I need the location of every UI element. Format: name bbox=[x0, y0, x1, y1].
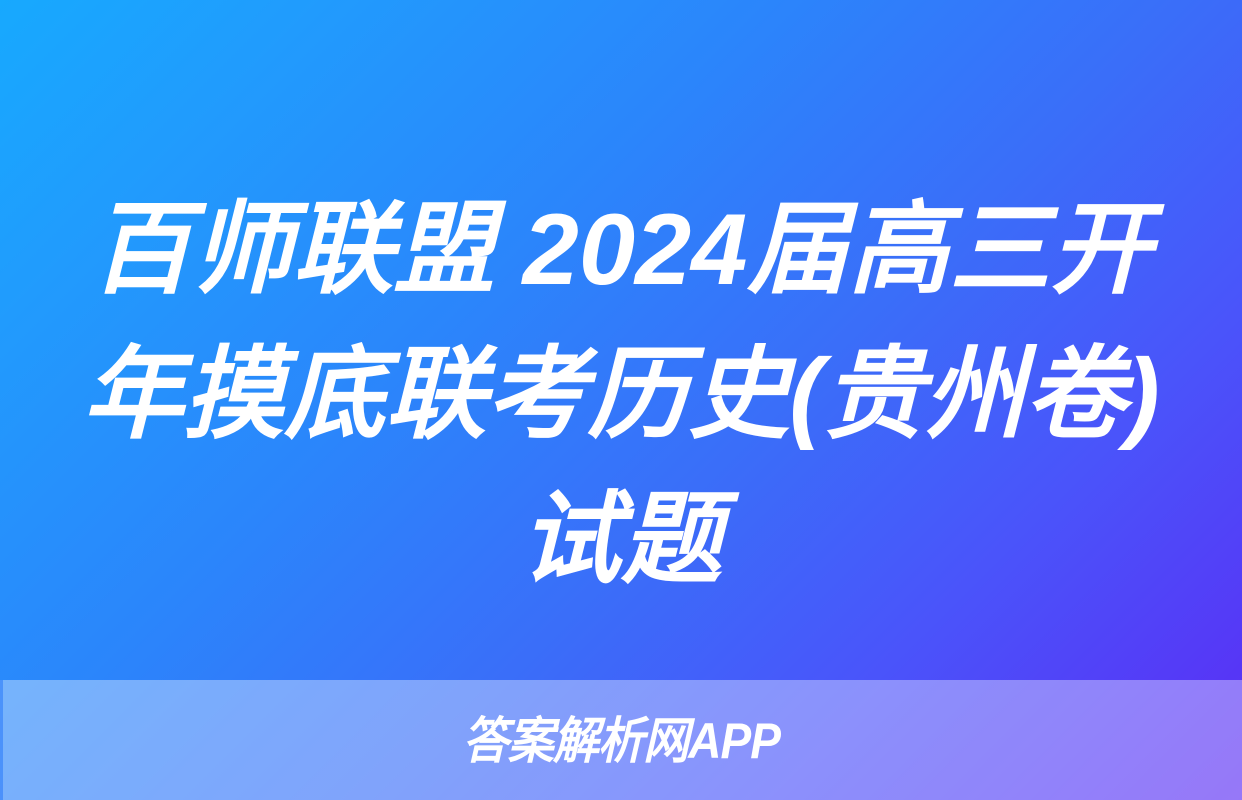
watermark-brand-label: 答案解析网APP bbox=[462, 716, 779, 766]
exam-cover-card: 百师联盟 2024届高三开 年摸底联考历史(贵州卷) 试题 答案解析网APP bbox=[0, 0, 1242, 800]
watermark-band: 答案解析网APP bbox=[0, 680, 1242, 800]
page-title: 百师联盟 2024届高三开 年摸底联考历史(贵州卷) 试题 bbox=[0, 178, 1242, 613]
band-left-edge bbox=[0, 680, 3, 800]
page-title-line-1: 百师联盟 2024届高三开 bbox=[60, 178, 1182, 323]
page-title-line-2: 年摸底联考历史(贵州卷) bbox=[60, 323, 1182, 468]
page-title-line-3: 试题 bbox=[60, 468, 1182, 613]
